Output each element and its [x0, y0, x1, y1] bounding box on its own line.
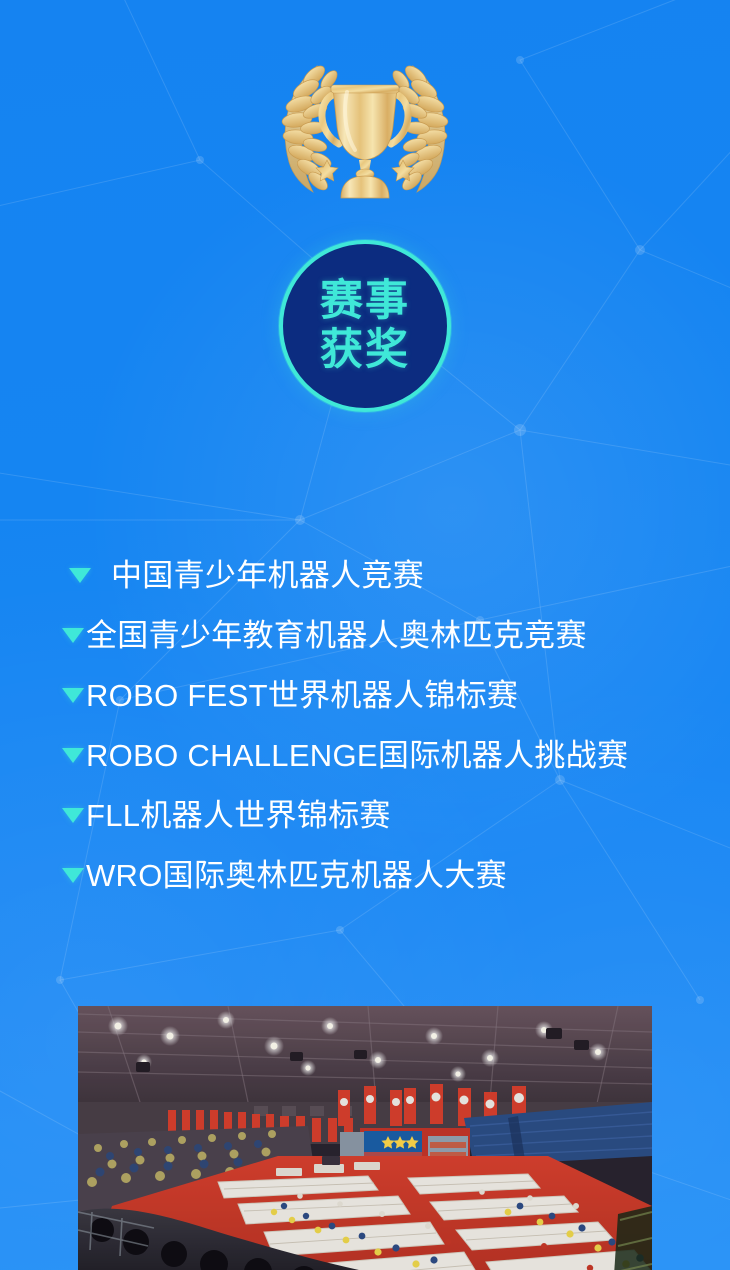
section-badge: 赛事 获奖	[279, 240, 451, 412]
award-label: 中国青少年机器人竞赛	[111, 560, 424, 591]
award-label: ROBO FEST世界机器人锦标赛	[86, 680, 518, 711]
award-label: WRO国际奥林匹克机器人大赛	[86, 860, 507, 891]
badge-line-2: 获奖	[320, 328, 410, 373]
award-list-item[interactable]: 中国青少年机器人竞赛	[62, 545, 730, 605]
award-list-item[interactable]: ROBO CHALLENGE国际机器人挑战赛	[62, 725, 730, 785]
award-list-item[interactable]: 全国青少年教育机器人奥林匹克竞赛	[62, 605, 730, 665]
award-list-item[interactable]: FLL机器人世界锦标赛	[62, 785, 730, 845]
award-list-item[interactable]: ROBO FEST世界机器人锦标赛	[62, 665, 730, 725]
arena-photo-illustration	[78, 1006, 652, 1270]
triangle-down-icon	[69, 568, 91, 583]
triangle-down-icon	[62, 808, 84, 823]
badge-line-1: 赛事	[320, 279, 410, 324]
competition-arena-photo	[78, 1006, 652, 1270]
award-list: 中国青少年机器人竞赛 全国青少年教育机器人奥林匹克竞赛 ROBO FEST世界机…	[0, 545, 730, 905]
triangle-down-icon	[62, 748, 84, 763]
triangle-down-icon	[62, 628, 84, 643]
award-list-item[interactable]: WRO国际奥林匹克机器人大赛	[62, 845, 730, 905]
award-label: ROBO CHALLENGE国际机器人挑战赛	[86, 740, 628, 771]
award-label: 全国青少年教育机器人奥林匹克竞赛	[86, 620, 587, 651]
triangle-down-icon	[62, 868, 84, 883]
poster-root: 赛事 获奖 中国青少年机器人竞赛 全国青少年教育机器人奥林匹克竞赛 ROBO F…	[0, 0, 730, 1270]
triangle-down-icon	[62, 688, 84, 703]
trophy-with-laurel-icon	[255, 48, 475, 200]
award-label: FLL机器人世界锦标赛	[86, 800, 391, 831]
trophy-header	[0, 48, 730, 200]
